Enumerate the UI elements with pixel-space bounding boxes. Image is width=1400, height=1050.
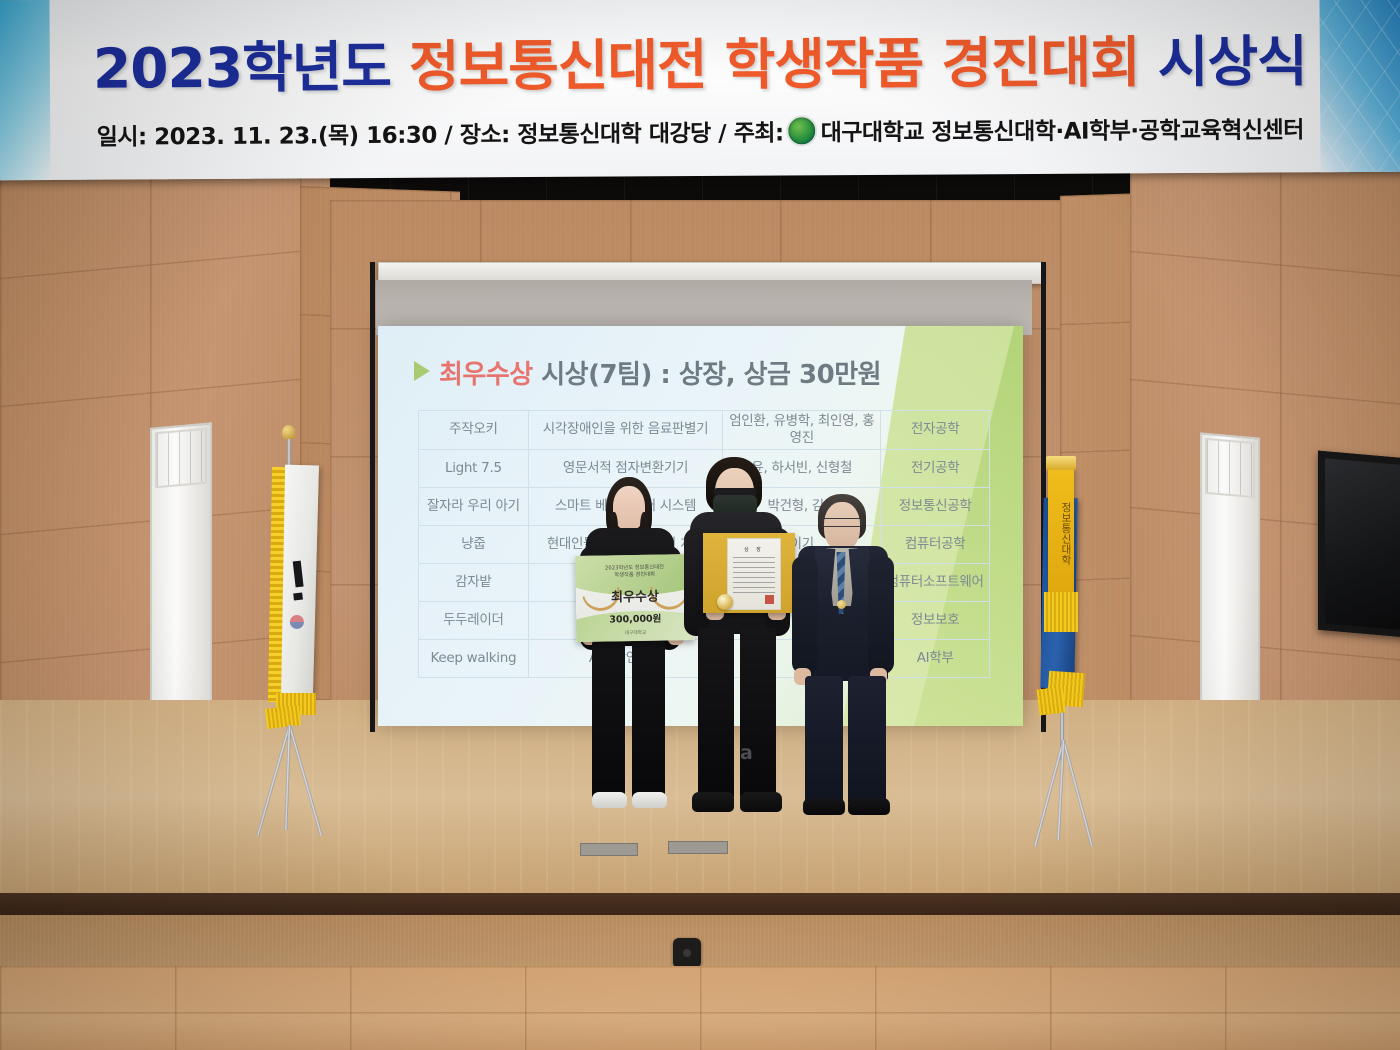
award-ceremony-photo: 최우수상 시상(7팀) : 상장, 상금 30만원 주작오키시각장애인을 위한 …: [0, 0, 1400, 1050]
red-seal-icon: [765, 595, 774, 604]
table-cell-team: 잘자라 우리 아기: [419, 487, 529, 525]
wall-mounted-display: [1318, 451, 1400, 639]
table-cell-team: 주작오키: [419, 411, 529, 450]
table-cell-team: 감자밭: [419, 563, 529, 601]
flag-fringe-bottom: [1037, 687, 1066, 716]
stage-floor-plate: [668, 841, 728, 854]
certificate-title: 상 장: [728, 546, 780, 553]
left-shoe: [692, 792, 734, 812]
banner-subtitle-right: 대구대학교 정보통신대학·AI학부·공학교육혁신센터: [821, 117, 1304, 146]
daegu-university-logo: [787, 115, 818, 146]
banner-title: 2023학년도 정보통신대전 학생작품 경진대회 시상식: [0, 16, 1400, 105]
slide-title-rest: 시상(7팀) : 상장, 상금 30만원: [533, 360, 881, 390]
display-screen: [1325, 458, 1400, 631]
table-cell-dept: 정보통신공학: [881, 487, 990, 525]
placard-award-name: 최우수상: [576, 585, 694, 606]
table-cell-team: 두두레이더: [419, 601, 529, 639]
right-leg: [632, 640, 665, 800]
table-cell-dept: 정보보호: [881, 601, 990, 639]
pants-brand-logo: a: [740, 742, 757, 770]
table-cell-dept: 전기공학: [881, 449, 990, 487]
table-cell-dept: AI학부: [881, 639, 990, 677]
table-cell-team: 냥줍: [419, 525, 529, 563]
left-arm: [792, 556, 818, 674]
table-row: 주작오키시각장애인을 위한 음료판별기엄인환, 유병학, 최인영, 홍영진전자공…: [419, 411, 990, 450]
stage-edge: [0, 893, 1400, 917]
placard-header-line1: 2023학년도 정보통신대전: [605, 564, 664, 571]
taeguk-circle: [290, 615, 304, 629]
flag-fringe-bottom: [265, 705, 301, 729]
banner-subtitle: 일시: 2023. 11. 23.(목) 16:30 / 장소: 정보통신대학 …: [0, 110, 1400, 153]
triangle-right-icon: [414, 361, 430, 381]
right-arm: [868, 556, 894, 674]
table-row: Light 7.5영문서적 점자변환기기윤, 하서빈, 신형철전기공학: [419, 449, 990, 487]
left-leg: [805, 676, 843, 806]
banner-title-main: 정보통신대전 학생작품 경진대회: [409, 30, 1140, 98]
flag-banner-fringe: [1044, 592, 1078, 632]
placard-header: 2023학년도 정보통신대전 학생작품 경진대회: [575, 564, 693, 580]
flag-finial: [282, 425, 295, 440]
right-shoe: [632, 792, 667, 808]
event-banner: 2023학년도 정보통신대전 학생작품 경진대회 시상식 일시: 2023. 1…: [0, 0, 1400, 180]
taeguk-trigram: [293, 561, 304, 588]
hall-floor: [0, 966, 1400, 1050]
left-shoe: [803, 798, 845, 815]
left-leg: [592, 640, 625, 800]
table-cell-dept: 전자공학: [881, 411, 990, 450]
table-cell-project: 시각장애인을 위한 음료판별기: [528, 411, 723, 450]
slide-title-highlight: 최우수상: [439, 360, 533, 390]
placard-amount: 300,000원: [576, 610, 694, 626]
stage-floor-plate: [580, 843, 638, 856]
certificate-paper: 상 장: [727, 538, 781, 610]
banner-title-tail: 시상식: [1158, 29, 1307, 94]
flag-banner-top-bar: [1046, 456, 1076, 470]
left-shoe: [592, 792, 627, 808]
flag-banner-text: 정보통신대학: [1048, 468, 1074, 593]
table-cell-dept: 컴퓨터공학: [881, 525, 990, 563]
table-cell-team: Light 7.5: [419, 449, 529, 487]
right-shoe: [848, 798, 890, 815]
certificate-folder: 상 장: [703, 533, 795, 613]
banner-title-year: 2023학년도: [93, 35, 391, 101]
door-transom-window: [155, 428, 207, 489]
eyeglasses: [822, 518, 862, 527]
right-leg: [740, 628, 776, 800]
prize-placard: 2023학년도 정보통신대전 학생작품 경진대회 최우수상 300,000원 대…: [575, 554, 694, 642]
slide-title: 최우수상 시상(7팀) : 상장, 상금 30만원: [414, 354, 881, 391]
table-cell-team: Keep walking: [419, 639, 529, 677]
taeguk-trigram: [293, 592, 303, 600]
right-leg: [848, 676, 886, 806]
left-leg: [698, 628, 734, 800]
banner-subtitle-left: 일시: 2023. 11. 23.(목) 16:30 / 장소: 정보통신대학 …: [97, 120, 784, 150]
gold-medal-icon: [717, 594, 733, 610]
right-shoe: [740, 792, 782, 812]
flag-cloth: [279, 465, 319, 696]
lapel-pin: [837, 600, 846, 609]
certificate-body-text: [733, 557, 775, 597]
floor-power-outlet[interactable]: [673, 938, 701, 968]
door-transom-window: [1205, 438, 1255, 498]
table-cell-members: 엄인환, 유병학, 최인영, 홍영진: [723, 411, 881, 450]
placard-header-line2: 학생작품 경진대회: [614, 572, 655, 579]
table-cell-dept: 컴퓨터소프트웨어: [881, 563, 990, 601]
